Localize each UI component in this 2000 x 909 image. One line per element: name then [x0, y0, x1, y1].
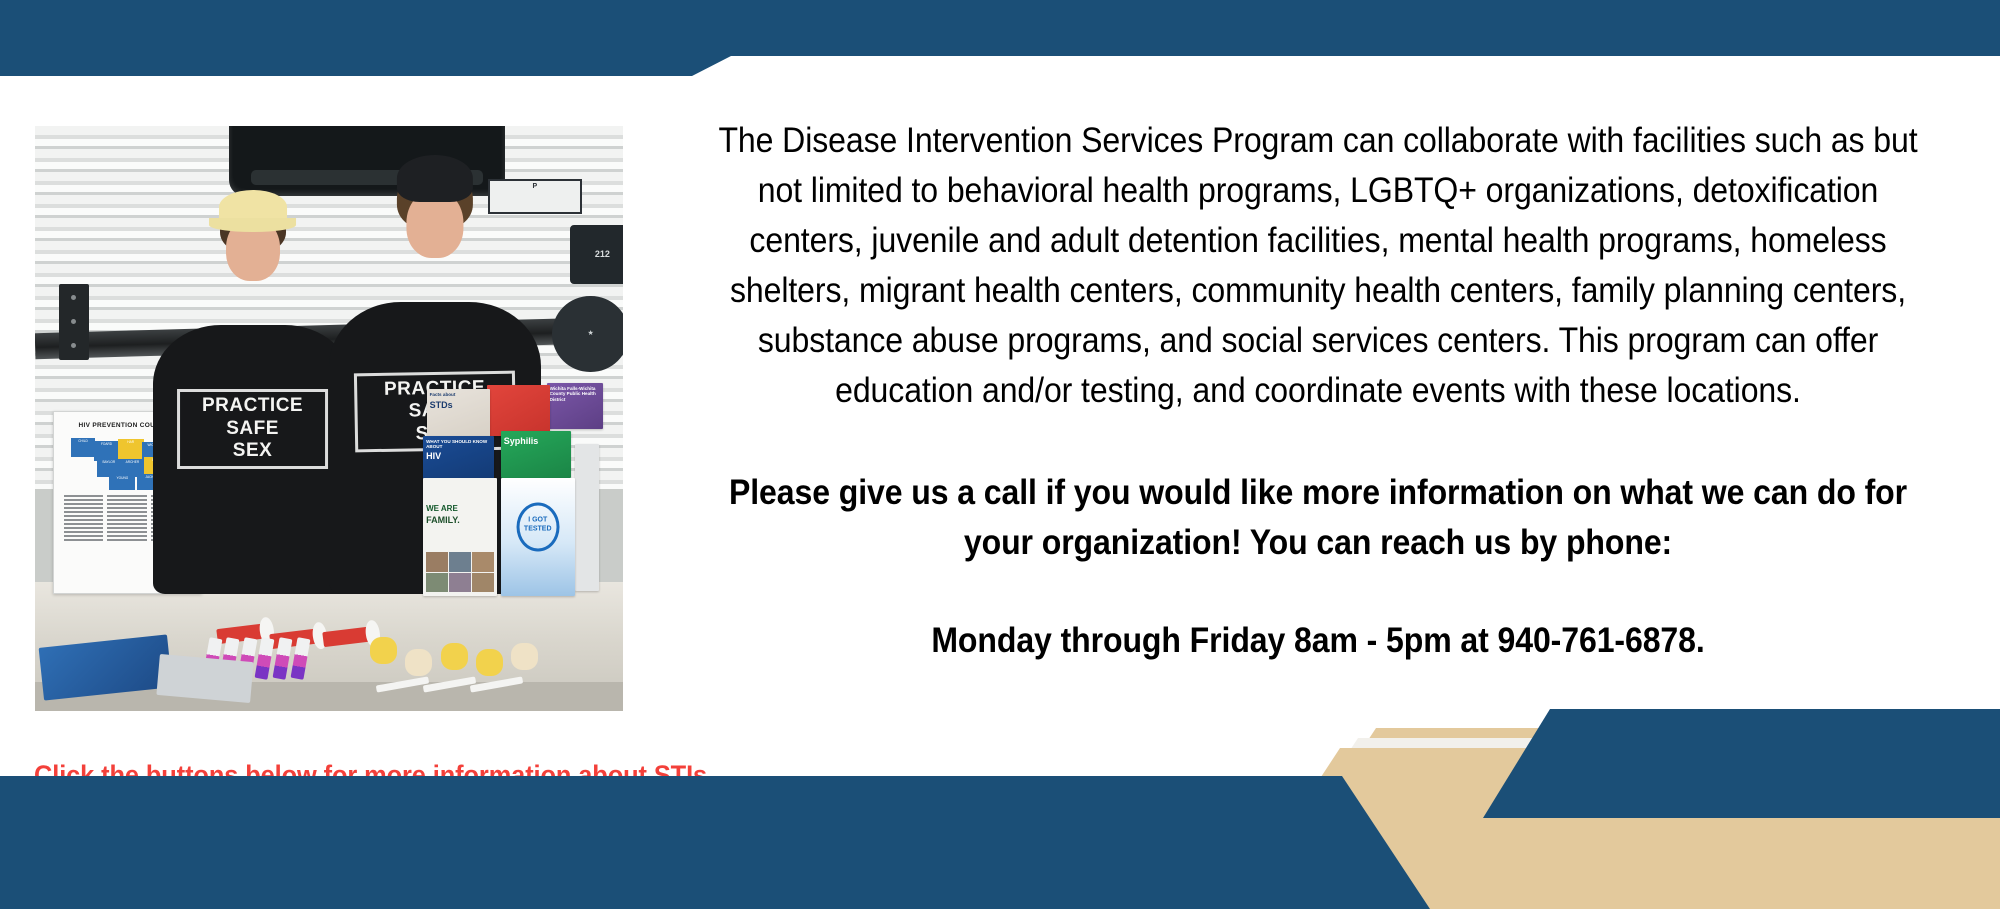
content-column: The Disease Intervention Services Progra…: [648, 116, 1988, 666]
table-item-flower-4: [476, 649, 503, 676]
brochure-purple-flyer: Wichita Falls-Wichita County Public Heal…: [547, 383, 603, 429]
brochure-rack: Wichita Falls-Wichita County Public Heal…: [423, 389, 599, 600]
program-description: The Disease Intervention Services Progra…: [705, 116, 1931, 416]
call-to-action: Please give us a call if you would like …: [705, 468, 1931, 568]
brochure-rack-side-panel: [575, 444, 600, 591]
table-item-flower-3: [441, 643, 468, 670]
brochure-hiv-title: HIV: [426, 451, 491, 461]
left-shirt-line-3: SEX: [233, 440, 273, 461]
brochure-we-are-family: WE ARE FAMILY.: [423, 478, 497, 596]
table-item-gray-literature: [157, 654, 254, 703]
left-shirt-line-1: PRACTICE: [202, 395, 303, 416]
brochure-i-got-tested: I GOT TESTED: [501, 478, 575, 596]
county-hardeman: HAR: [118, 439, 144, 461]
decal-dealer-sticker: P: [488, 179, 582, 214]
brochure-family-sub: WE ARE: [426, 504, 494, 513]
brochure-family-title: FAMILY.: [426, 515, 494, 525]
decal-badge: 212: [570, 225, 623, 284]
decal-round-emblem: ★: [552, 296, 623, 372]
page-root: P 212 ★ HIV PREVENTION COUNTIES CHILD FO…: [0, 0, 2000, 909]
left-shirt-text: PRACTICE SAFE SEX: [177, 389, 329, 468]
photo-canvas: P 212 ★ HIV PREVENTION COUNTIES CHILD FO…: [35, 126, 623, 711]
brochure-family-photo-grid: [426, 552, 494, 592]
brochure-tested-title: I GOT TESTED: [519, 517, 556, 535]
awning-bracket: [59, 284, 90, 360]
brochure-syphilis-title: Syphilis: [504, 436, 569, 446]
outreach-photo: P 212 ★ HIV PREVENTION COUNTIES CHILD FO…: [35, 126, 623, 711]
brochure-hiv-sub: WHAT YOU SHOULD KNOW ABOUT: [426, 439, 491, 450]
left-staff-cap: [219, 190, 287, 224]
right-staff-bandana: [397, 155, 473, 202]
bottom-banner: [0, 709, 2000, 909]
staff-member-left: PRACTICE SAFE SEX: [153, 325, 353, 594]
top-banner: [0, 0, 2000, 76]
brochure-stds-title: STDs: [430, 400, 488, 410]
brochure-stds-sub: Facts about: [430, 392, 488, 397]
brochure-hiv: WHAT YOU SHOULD KNOW ABOUT HIV: [423, 436, 494, 482]
brochure-red-flyer: [487, 385, 551, 436]
i-got-tested-seal: I GOT TESTED: [516, 503, 559, 552]
table-item-flower-5: [511, 643, 538, 670]
brochure-syphilis: Syphilis: [501, 431, 572, 477]
hours-and-phone: Monday through Friday 8am - 5pm at 940-7…: [705, 616, 1931, 666]
county-child: CHILD: [71, 438, 96, 457]
county-young: YOUNG: [109, 475, 135, 490]
table-item-flower-2: [405, 649, 432, 676]
brochure-purple-title: Wichita Falls-Wichita County Public Heal…: [550, 386, 600, 402]
left-shirt-line-2: SAFE: [226, 418, 279, 439]
table-item-flower-1: [370, 637, 397, 664]
